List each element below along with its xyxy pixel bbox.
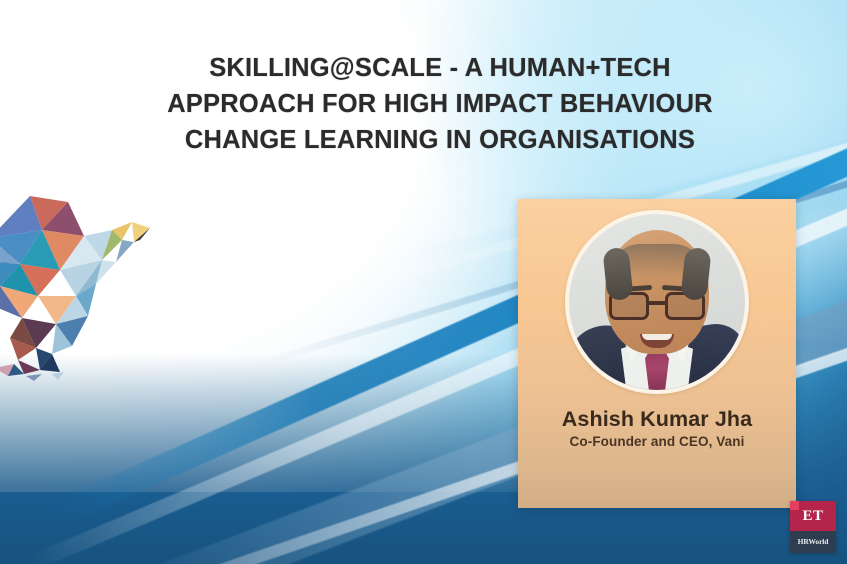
speaker-avatar xyxy=(565,210,749,394)
speaker-name: Ashish Kumar Jha xyxy=(518,407,796,432)
slide-title-line-3: CHANGE LEARNING IN ORGANISATIONS xyxy=(60,122,820,158)
et-hrworld-logo: ET HRWorld xyxy=(790,501,836,553)
presentation-slide: N xyxy=(0,0,847,564)
hrworld-logo-text: HRWorld xyxy=(798,538,829,546)
slide-title-line-2: APPROACH FOR HIGH IMPACT BEHAVIOUR xyxy=(60,86,820,122)
hrworld-logo-mark: HRWorld xyxy=(790,531,836,553)
slide-title: SKILLING@SCALE - A HUMAN+TECH APPROACH F… xyxy=(60,50,820,158)
speaker-card: Ashish Kumar Jha Co-Founder and CEO, Van… xyxy=(518,199,796,508)
speaker-role: Co-Founder and CEO, Vani xyxy=(518,434,796,449)
portrait-glasses-bridge xyxy=(649,301,665,305)
low-poly-bird-icon xyxy=(0,178,154,383)
portrait-mouth xyxy=(640,334,674,348)
et-logo-mark: ET xyxy=(790,501,836,531)
et-logo-text: ET xyxy=(802,509,823,524)
slide-title-line-1: SKILLING@SCALE - A HUMAN+TECH xyxy=(60,50,820,86)
speaker-portrait xyxy=(569,214,745,390)
portrait-teeth xyxy=(642,334,672,340)
